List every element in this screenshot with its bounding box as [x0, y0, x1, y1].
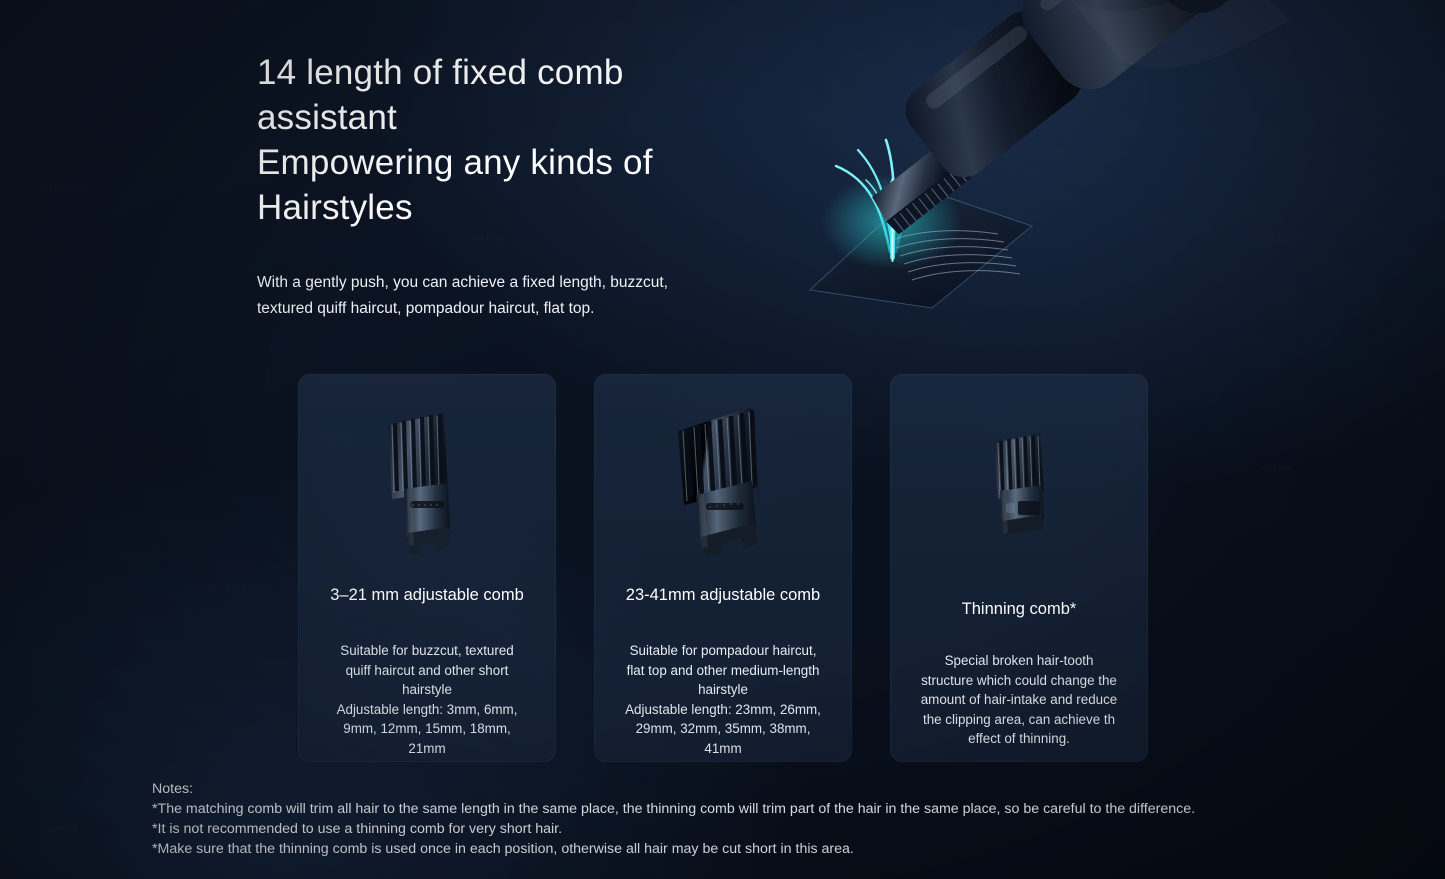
card-body-line: Suitable for pompadour haircut,	[606, 642, 840, 661]
watermark-texture: dlkfjdlkf jdl	[40, 826, 78, 833]
card-body-line: amount of hair-intake and reduce	[902, 691, 1136, 710]
card-title-small: 3–21 mm adjustable comb	[312, 582, 542, 608]
notes-line-2: *It is not recommended to use a thinning…	[152, 819, 1352, 839]
headline-line-2: assistant	[257, 95, 877, 140]
subtitle-line-1: With a gently push, you can achieve a fi…	[257, 270, 817, 296]
page-title: 14 length of fixed comb assistant Empowe…	[257, 50, 877, 230]
thinning-comb-attachment-icon	[890, 392, 1148, 572]
watermark-texture: dfjlkd fldjf	[470, 236, 504, 243]
page-background: dddsldfld ffdj jkldf fldjf kdlf dfjlkd f…	[0, 0, 1445, 879]
watermark-texture: jkldf fldjf kdlf	[200, 586, 245, 593]
card-title-thinning: Thinning comb*	[904, 596, 1134, 622]
card-adjustable-comb-small[interactable]: 3–21 mm adjustable comb Suitable for buz…	[298, 374, 556, 762]
card-thinning-comb[interactable]: Thinning comb* Special broken hair-tooth…	[890, 374, 1148, 762]
card-body-line: Special broken hair-tooth	[902, 652, 1136, 671]
card-body-line: hairstyle	[310, 681, 544, 700]
card-body-thinning: Special broken hair-tooth structure whic…	[902, 652, 1136, 749]
card-body-line: structure which could change the	[902, 672, 1136, 691]
card-body-line: effect of thinning.	[902, 730, 1136, 749]
subtitle-paragraph: With a gently push, you can achieve a fi…	[257, 270, 817, 322]
card-title-large: 23-41mm adjustable comb	[608, 582, 838, 608]
card-body-line: 9mm, 12mm, 15mm, 18mm,	[310, 720, 544, 739]
adjustable-comb-attachment-small-icon	[298, 392, 556, 572]
adjustable-comb-attachment-large-icon	[594, 392, 852, 572]
notes-section: Notes: *The matching comb will trim all …	[152, 779, 1352, 859]
subtitle-line-2: textured quiff haircut, pompadour haircu…	[257, 296, 817, 322]
card-body-line: 21mm	[310, 740, 544, 759]
card-body-line: hairstyle	[606, 681, 840, 700]
card-body-line: quiff haircut and other short	[310, 662, 544, 681]
notes-heading: Notes:	[152, 779, 1352, 799]
card-body-line: 29mm, 32mm, 35mm, 38mm,	[606, 720, 840, 739]
card-body-line: Adjustable length: 3mm, 6mm,	[310, 701, 544, 720]
headline-line-3: Empowering any kinds of	[257, 140, 877, 185]
card-body-large: Suitable for pompadour haircut, flat top…	[606, 642, 840, 758]
watermark-texture: dddsldfld ffdj	[40, 186, 85, 193]
headline-line-1: 14 length of fixed comb	[257, 50, 877, 95]
card-body-line: Adjustable length: 23mm, 26mm,	[606, 701, 840, 720]
watermark-texture: fjdlk fjdlk	[1262, 466, 1293, 473]
comb-attachment-cards: 3–21 mm adjustable comb Suitable for buz…	[298, 374, 1148, 762]
card-body-line: the clipping area, can achieve th	[902, 711, 1136, 730]
card-body-line: 41mm	[606, 740, 840, 759]
card-body-small: Suitable for buzzcut, textured quiff hai…	[310, 642, 544, 758]
card-body-line: flat top and other medium-length	[606, 662, 840, 681]
card-adjustable-comb-large[interactable]: 23-41mm adjustable comb Suitable for pom…	[594, 374, 852, 762]
headline-line-4: Hairstyles	[257, 185, 877, 230]
notes-line-1: *The matching comb will trim all hair to…	[152, 799, 1352, 819]
notes-line-3: *Make sure that the thinning comb is use…	[152, 839, 1352, 859]
card-body-line: Suitable for buzzcut, textured	[310, 642, 544, 661]
